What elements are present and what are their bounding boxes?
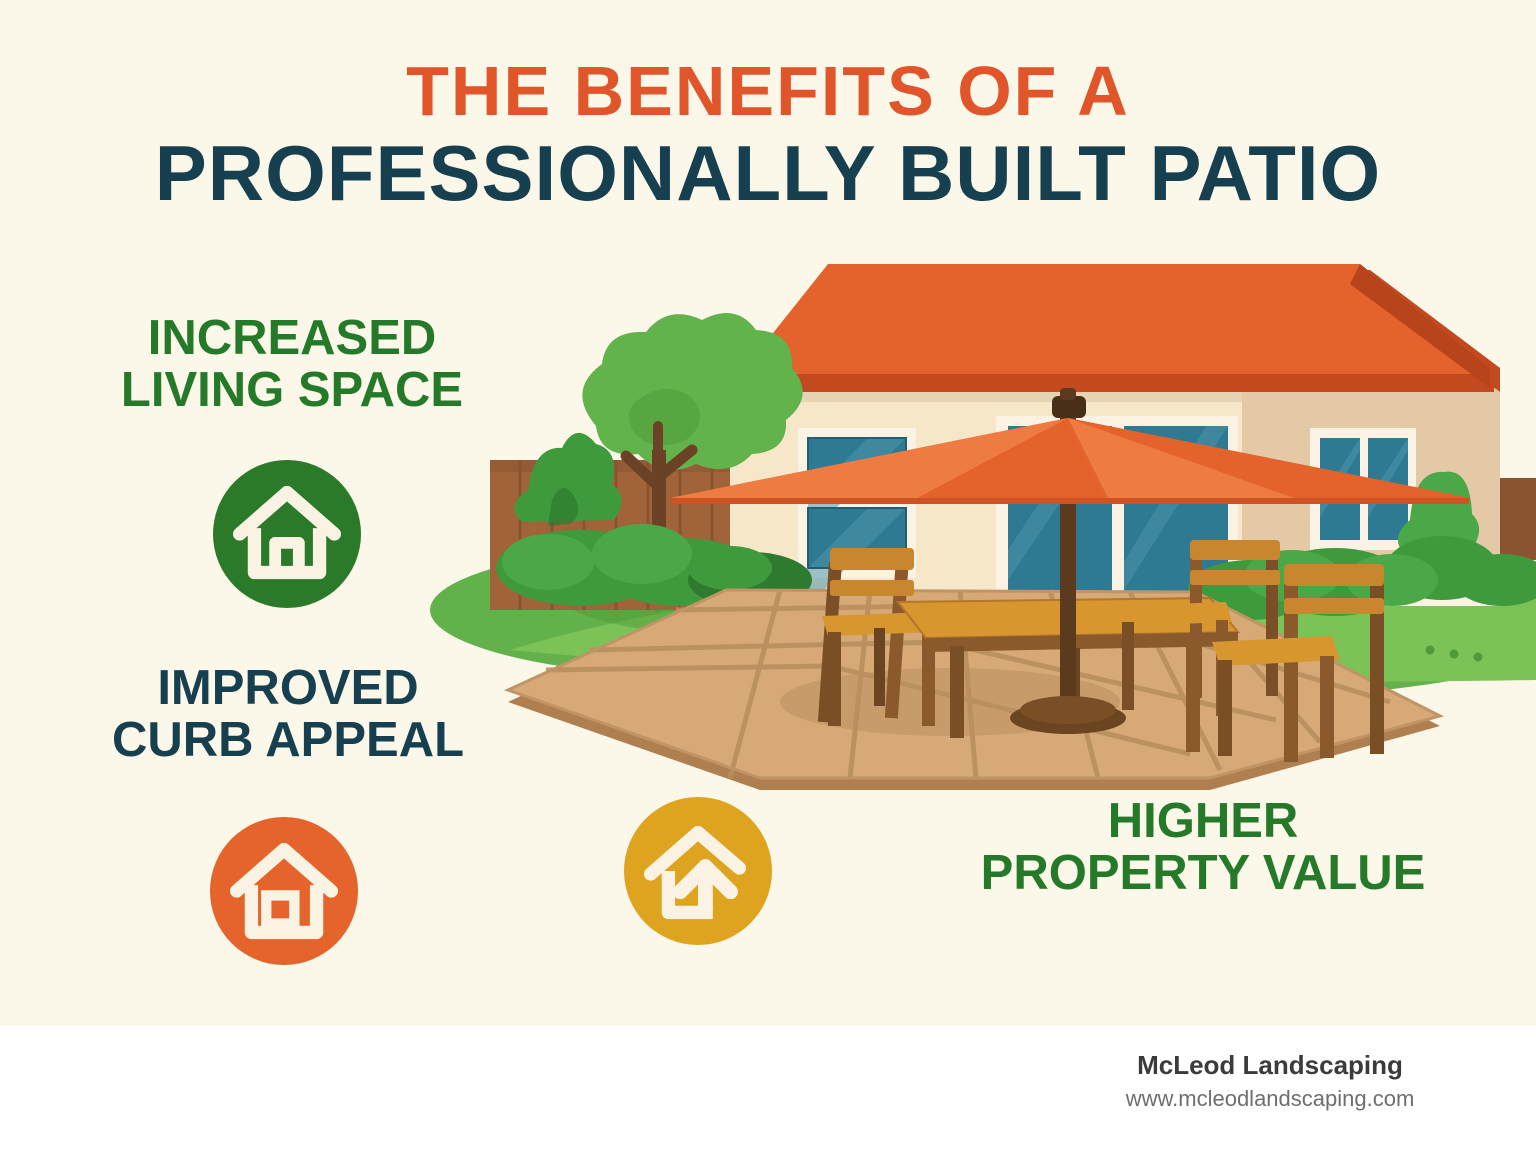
house-icon xyxy=(213,460,361,608)
benefit-3-line-2: PROPERTY VALUE xyxy=(878,847,1528,899)
badge-improved-curb-appeal xyxy=(210,817,358,965)
headline-line-1: THE BENEFITS OF A xyxy=(0,56,1536,126)
benefit-label-higher-property-value: HIGHER PROPERTY VALUE xyxy=(878,795,1528,900)
footer-bar: McLeod Landscaping www.mcleodlandscaping… xyxy=(0,1026,1536,1154)
footer-brand-block: McLeod Landscaping www.mcleodlandscaping… xyxy=(1060,1050,1480,1114)
headline-line-2: PROFESSIONALLY BUILT PATIO xyxy=(0,134,1536,212)
brand-url[interactable]: www.mcleodlandscaping.com xyxy=(1060,1085,1480,1114)
house-up-arrow-icon xyxy=(624,797,772,945)
badge-increased-living-space xyxy=(213,460,361,608)
infographic-canvas: THE BENEFITS OF A PROFESSIONALLY BUILT P… xyxy=(0,0,1536,1154)
benefit-label-improved-curb-appeal: IMPROVED CURB APPEAL xyxy=(18,662,558,767)
infographic-stage: THE BENEFITS OF A PROFESSIONALLY BUILT P… xyxy=(0,0,1536,1026)
benefit-1-line-1: INCREASED xyxy=(22,312,562,364)
brand-name: McLeod Landscaping xyxy=(1060,1050,1480,1081)
benefit-label-increased-living-space: INCREASED LIVING SPACE xyxy=(22,312,562,417)
benefit-2-line-1: IMPROVED xyxy=(18,662,558,714)
house-window-icon xyxy=(210,817,358,965)
backyard-patio-illustration xyxy=(430,250,1536,810)
benefit-1-line-2: LIVING SPACE xyxy=(22,364,562,416)
badge-higher-property-value xyxy=(624,797,772,945)
benefit-3-line-1: HIGHER xyxy=(878,795,1528,847)
benefit-2-line-2: CURB APPEAL xyxy=(18,714,558,766)
